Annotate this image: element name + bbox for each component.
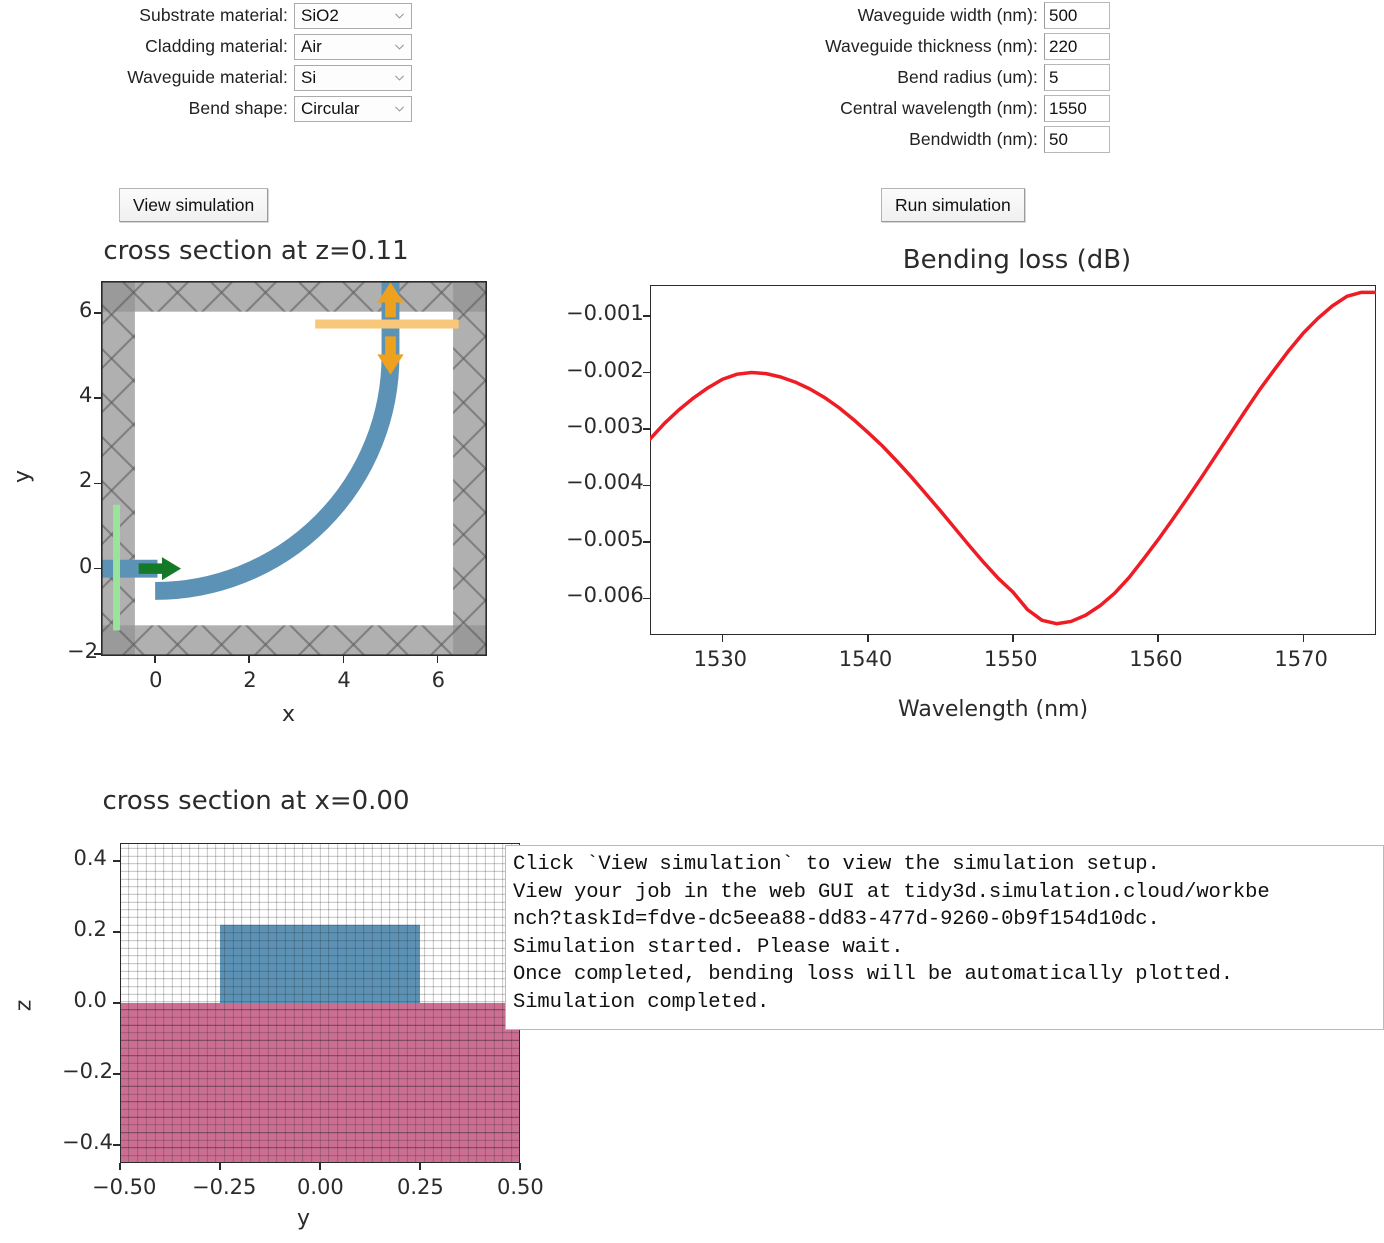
- waveguide-thickness-input[interactable]: 220: [1044, 33, 1110, 60]
- cross-section-yz-ytick-label: 0.0: [74, 988, 107, 1012]
- bend-shape-label: Bend shape:: [189, 98, 294, 119]
- substrate-material-label: Substrate material:: [139, 5, 294, 26]
- form-row-bend-radius: Bend radius (um):5: [700, 62, 1110, 93]
- bending-loss-xtick-mark: [722, 635, 724, 642]
- waveguide-thickness-value: 220: [1049, 38, 1077, 55]
- cladding-material-value: Air: [301, 38, 322, 55]
- cross-section-xy-plot: cross section at z=0.11 y x 0246−20246: [0, 236, 512, 736]
- bend-shape-select[interactable]: Circular: [294, 96, 412, 122]
- bending-loss-ytick-label: −0.006: [566, 583, 644, 607]
- bend-radius-input[interactable]: 5: [1044, 64, 1110, 91]
- cross-section-yz-xtick-mark: [119, 1163, 121, 1170]
- form-row-waveguide-width: Waveguide width (nm):500: [700, 0, 1110, 31]
- cross-section-xy-ytick-mark: [94, 483, 101, 485]
- bending-loss-ytick-label: −0.002: [566, 358, 644, 382]
- bend-radius-value: 5: [1049, 69, 1058, 86]
- waveguide-material-value: Si: [301, 69, 316, 86]
- form-row-central-wavelength: Central wavelength (nm):1550: [700, 93, 1110, 124]
- cladding-material-select[interactable]: Air: [294, 34, 412, 60]
- cross-section-yz-plot: cross section at x=0.00 z y −0.50−0.250.…: [0, 786, 512, 1243]
- log-line: Once completed, bending loss will be aut…: [513, 961, 1383, 989]
- bend-radius-label: Bend radius (um):: [897, 67, 1044, 88]
- simulation-log-panel[interactable]: Click `View simulation` to view the simu…: [505, 845, 1384, 1030]
- cross-section-xy-ytick-label: 6: [79, 298, 92, 322]
- run-simulation-button[interactable]: Run simulation: [881, 188, 1025, 222]
- view-simulation-button[interactable]: View simulation: [119, 188, 268, 222]
- bending-loss-ytick-mark: [643, 315, 650, 317]
- bending-loss-xtick-label: 1560: [1129, 647, 1182, 671]
- substrate-material-value: SiO2: [301, 7, 339, 24]
- form-row-bendwidth: Bendwidth (nm):50: [700, 124, 1110, 155]
- log-line: View your job in the web GUI at tidy3d.s…: [513, 879, 1383, 907]
- form-row-waveguide-thickness: Waveguide thickness (nm):220: [700, 31, 1110, 62]
- cross-section-xy-xtick-mark: [154, 656, 156, 663]
- bending-loss-ytick-mark: [643, 372, 650, 374]
- cross-section-yz-ytick-mark: [113, 1144, 120, 1146]
- log-line: Simulation started. Please wait.: [513, 934, 1383, 962]
- cross-section-yz-ytick-label: 0.2: [74, 917, 107, 941]
- bending-loss-ytick-mark: [643, 428, 650, 430]
- cross-section-xy-ytick-mark: [94, 568, 101, 570]
- bending-loss-plot: Bending loss (dB) Wavelength (nm) 153015…: [500, 245, 1384, 735]
- cross-section-yz-ytick-label: 0.4: [74, 846, 107, 870]
- central-wavelength-label: Central wavelength (nm):: [840, 98, 1044, 119]
- substrate-material-select[interactable]: SiO2: [294, 3, 412, 29]
- log-line: Click `View simulation` to view the simu…: [513, 851, 1383, 879]
- cross-section-yz-xtick-label: 0.50: [497, 1175, 544, 1199]
- bendwidth-value: 50: [1049, 131, 1068, 148]
- cross-section-yz-xtick-mark: [219, 1163, 221, 1170]
- cross-section-xy-ytick-mark: [94, 312, 101, 314]
- form-row-bend-shape: Bend shape:Circular: [0, 93, 412, 124]
- bending-loss-xtick-label: 1530: [694, 647, 747, 671]
- bending-loss-xtick-label: 1570: [1274, 647, 1327, 671]
- bending-loss-xtick-mark: [1157, 635, 1159, 642]
- central-wavelength-value: 1550: [1049, 100, 1087, 117]
- cross-section-yz-ytick-mark: [113, 1002, 120, 1004]
- bending-loss-ytick-label: −0.004: [566, 470, 644, 494]
- cross-section-xy-ytick-label: 4: [79, 383, 92, 407]
- log-line: Simulation completed.: [513, 989, 1383, 1017]
- cross-section-xy-xtick-mark: [437, 656, 439, 663]
- form-row-waveguide-material: Waveguide material:Si: [0, 62, 412, 93]
- cross-section-yz-ytick-mark: [113, 931, 120, 933]
- cross-section-yz-xtick-mark: [519, 1163, 521, 1170]
- cross-section-xy-ytick-label: 0: [79, 554, 92, 578]
- cross-section-xy-ytick-label: −2: [67, 639, 98, 663]
- form-row-cladding-material: Cladding material:Air: [0, 31, 412, 62]
- bending-loss-ytick-label: −0.001: [566, 301, 644, 325]
- right-control-panel: Waveguide width (nm):500Waveguide thickn…: [700, 0, 1110, 155]
- waveguide-material-label: Waveguide material:: [127, 67, 294, 88]
- cross-section-yz-ytick-mark: [113, 1073, 120, 1075]
- form-row-substrate-material: Substrate material:SiO2: [0, 0, 412, 31]
- cross-section-yz-xtick-label: −0.50: [92, 1175, 156, 1199]
- bend-shape-value: Circular: [301, 100, 360, 117]
- bendwidth-input[interactable]: 50: [1044, 126, 1110, 153]
- cross-section-yz-xtick-label: −0.25: [192, 1175, 256, 1199]
- waveguide-width-input[interactable]: 500: [1044, 2, 1110, 29]
- cross-section-yz-xlabel: y: [297, 1206, 310, 1231]
- cross-section-yz-ytick-label: −0.4: [62, 1130, 113, 1154]
- bending-loss-ytick-label: −0.005: [566, 527, 644, 551]
- cladding-material-label: Cladding material:: [145, 36, 294, 57]
- bending-loss-ytick-mark: [643, 598, 650, 600]
- cross-section-yz-xtick-label: 0.00: [297, 1175, 344, 1199]
- bending-loss-xtick-label: 1540: [839, 647, 892, 671]
- cross-section-xy-xtick-label: 0: [149, 668, 162, 692]
- bending-loss-xtick-mark: [1303, 635, 1305, 642]
- cross-section-yz-xtick-mark: [419, 1163, 421, 1170]
- bending-loss-ytick-mark: [643, 541, 650, 543]
- waveguide-width-label: Waveguide width (nm):: [858, 5, 1044, 26]
- cross-section-yz-axes: [120, 843, 520, 1163]
- chevron-down-icon: [393, 102, 406, 115]
- bendwidth-label: Bendwidth (nm):: [909, 129, 1044, 150]
- cross-section-xy-ytick-mark: [94, 397, 101, 399]
- bending-loss-ytick-mark: [643, 485, 650, 487]
- cross-section-xy-xtick-label: 4: [337, 668, 350, 692]
- cross-section-yz-ytick-label: −0.2: [62, 1059, 113, 1083]
- bending-loss-xtick-mark: [1012, 635, 1014, 642]
- bending-loss-xtick-label: 1550: [984, 647, 1037, 671]
- bending-loss-ytick-label: −0.003: [566, 414, 644, 438]
- waveguide-thickness-label: Waveguide thickness (nm):: [825, 36, 1044, 57]
- left-control-panel: Substrate material:SiO2Cladding material…: [0, 0, 412, 124]
- chevron-down-icon: [393, 71, 406, 84]
- bending-loss-xlabel: Wavelength (nm): [898, 697, 1088, 722]
- central-wavelength-input[interactable]: 1550: [1044, 95, 1110, 122]
- chevron-down-icon: [393, 40, 406, 53]
- waveguide-material-select[interactable]: Si: [294, 65, 412, 91]
- cross-section-yz-ytick-mark: [113, 860, 120, 862]
- log-line: nch?taskId=fdve-dc5eea88-dd83-477d-9260-…: [513, 906, 1383, 934]
- waveguide-width-value: 500: [1049, 7, 1077, 24]
- cross-section-xy-xtick-label: 6: [432, 668, 445, 692]
- cross-section-xy-ytick-label: 2: [79, 468, 92, 492]
- bending-loss-title: Bending loss (dB): [650, 245, 1384, 275]
- cross-section-yz-title: cross section at x=0.00: [0, 786, 512, 816]
- chevron-down-icon: [393, 9, 406, 22]
- bending-loss-curve: [650, 285, 1376, 635]
- cross-section-yz-xtick-label: 0.25: [397, 1175, 444, 1199]
- cross-section-xy-xtick-label: 2: [243, 668, 256, 692]
- cross-section-xy-xtick-mark: [343, 656, 345, 663]
- cross-section-yz-ylabel: z: [11, 1000, 36, 1012]
- bending-loss-xtick-mark: [867, 635, 869, 642]
- cross-section-xy-xtick-mark: [248, 656, 250, 663]
- cross-section-yz-xtick-mark: [319, 1163, 321, 1170]
